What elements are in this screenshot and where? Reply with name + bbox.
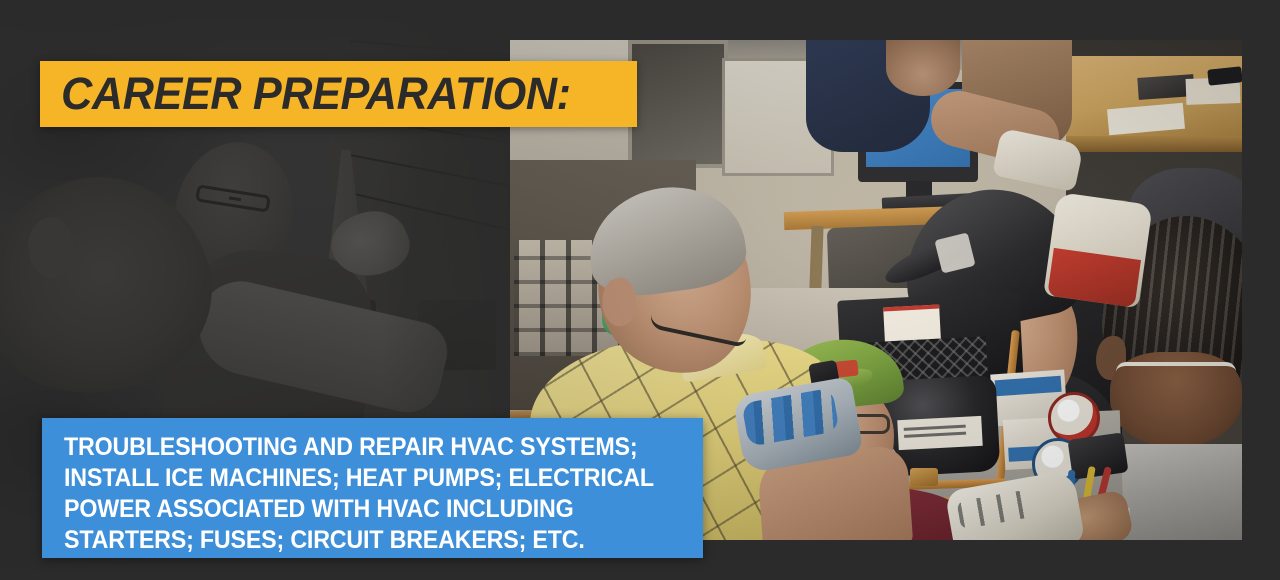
description-line-2: INSTALL ICE MACHINES; HEAT PUMPS; ELECTR…: [64, 463, 642, 494]
career-preparation-banner: CAREER PREPARATION: TROUBLESHOOTING AND …: [0, 0, 1280, 580]
description-line-1: TROUBLESHOOTING AND REPAIR HVAC SYSTEMS;: [64, 432, 642, 463]
description-line-4: STARTERS; FUSES; CIRCUIT BREAKERS; ETC.: [64, 525, 642, 556]
description-line-3: POWER ASSOCIATED WITH HVAC INCLUDING: [64, 494, 642, 525]
description-box: TROUBLESHOOTING AND REPAIR HVAC SYSTEMS;…: [42, 418, 703, 558]
headline-banner: CAREER PREPARATION:: [40, 61, 637, 127]
page-title: CAREER PREPARATION:: [40, 68, 571, 120]
